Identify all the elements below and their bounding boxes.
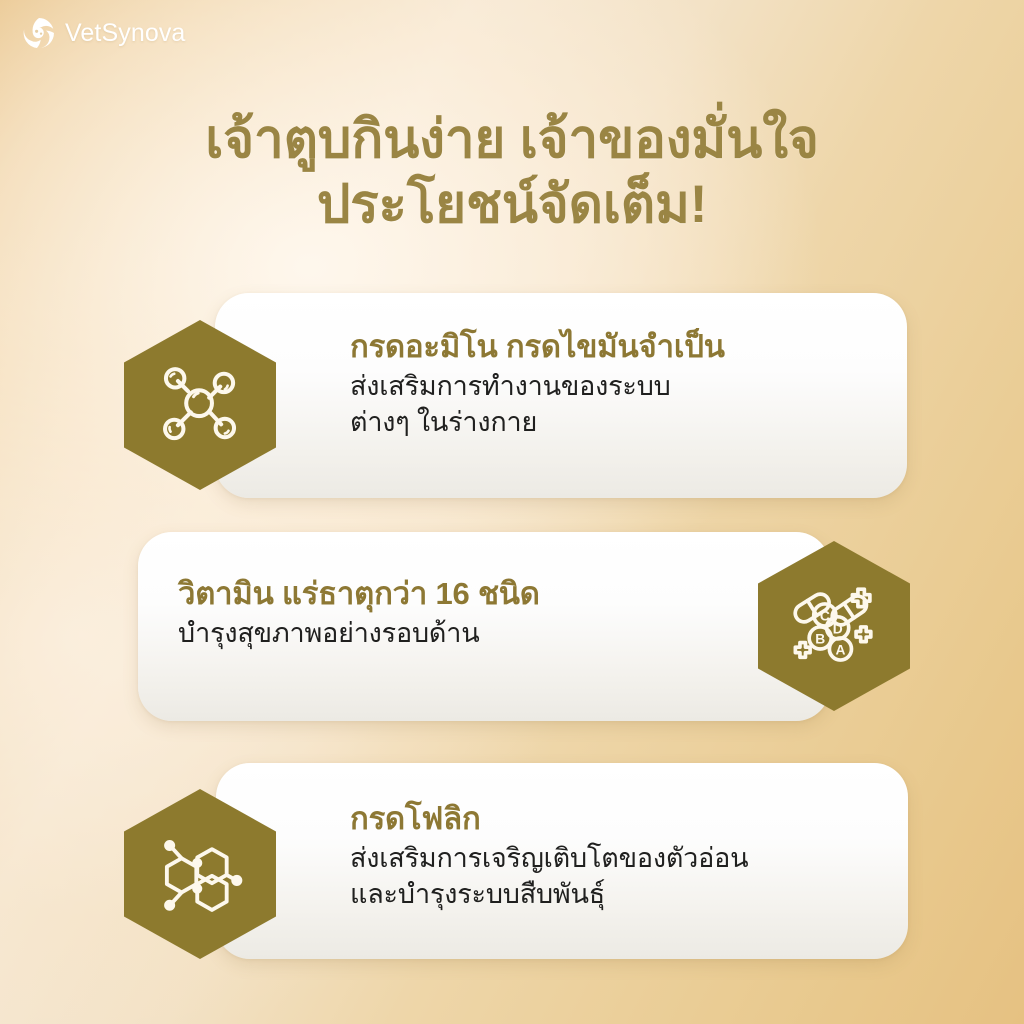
headline-line-1: เจ้าตูบกินง่าย เจ้าของมั่นใจ <box>205 110 819 169</box>
card-body-line-2: ต่างๆ ในร่างกาย <box>350 405 725 441</box>
vitamin-label-a: A <box>835 643 845 658</box>
card-title: กรดโฟลิก <box>350 799 748 839</box>
poster-canvas: VetSynova เจ้าตูบกินง่าย เจ้าของมั่นใจ ป… <box>0 0 1024 1024</box>
brand-logo[interactable]: VetSynova <box>22 16 185 50</box>
card-title: กรดอะมิโน กรดไขมันจำเป็น <box>350 327 725 367</box>
card-text-block: กรดอะมิโน กรดไขมันจำเป็น ส่งเสริมการทำงา… <box>350 327 725 441</box>
benefit-card-amino-fatty-acids[interactable]: กรดอะมิโน กรดไขมันจำเป็น ส่งเสริมการทำงา… <box>215 293 907 498</box>
brand-wordmark: VetSynova <box>65 16 185 50</box>
vitamin-label-d: D <box>833 621 843 636</box>
vitamin-label-c: C <box>820 608 830 623</box>
card-body-line-1: บำรุงสุขภาพอย่างรอบด้าน <box>178 616 540 652</box>
vitamin-label-b: B <box>815 631 825 646</box>
card-body-line-1: ส่งเสริมการทำงานของระบบ <box>350 369 725 405</box>
card-title: วิตามิน แร่ธาตุกว่า 16 ชนิด <box>178 574 540 614</box>
card-text-block: วิตามิน แร่ธาตุกว่า 16 ชนิด บำรุงสุขภาพอ… <box>178 574 540 652</box>
card-body-line-2: และบำรุงระบบสืบพันธุ์ <box>350 877 748 913</box>
card-text-block: กรดโฟลิก ส่งเสริมการเจริญเติบโตของตัวอ่อ… <box>350 799 748 913</box>
pinwheel-circle-logo-icon <box>22 16 56 50</box>
benefit-card-folic-acid[interactable]: กรดโฟลิก ส่งเสริมการเจริญเติบโตของตัวอ่อ… <box>216 763 908 959</box>
card-body-line-1: ส่งเสริมการเจริญเติบโตของตัวอ่อน <box>350 841 748 877</box>
benefit-card-vitamins-minerals[interactable]: วิตามิน แร่ธาตุกว่า 16 ชนิด บำรุงสุขภาพอ… <box>138 532 830 721</box>
page-title: เจ้าตูบกินง่าย เจ้าของมั่นใจ ประโยชน์จัด… <box>0 108 1024 237</box>
headline-line-2: ประโยชน์จัดเต็ม! <box>0 173 1024 238</box>
chemical-rings-icon <box>154 828 246 920</box>
molecule-icon <box>154 359 246 451</box>
vitamin-capsules-icon: C D B A <box>788 580 880 672</box>
